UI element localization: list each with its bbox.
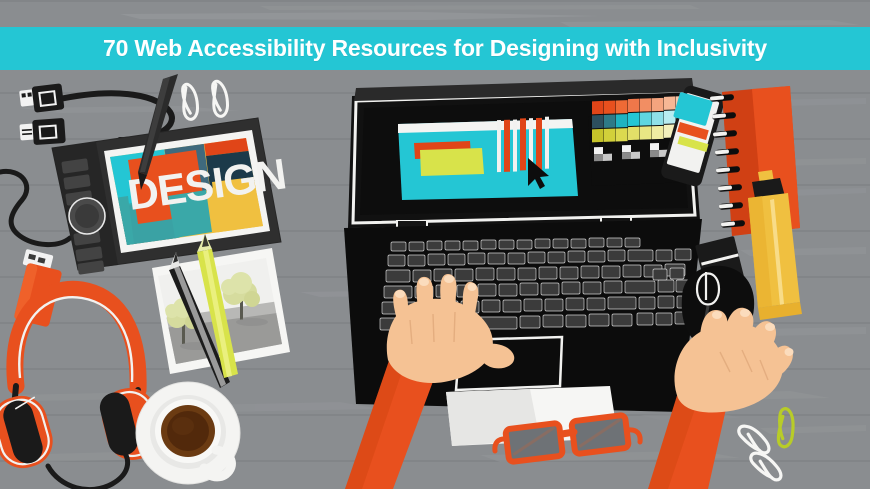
tablet-dial xyxy=(69,198,105,234)
desk-illustration: DESIGN xyxy=(0,0,870,489)
screen-bars xyxy=(497,117,549,172)
illustration-scene: DESIGN xyxy=(0,0,870,489)
title-banner: 70 Web Accessibility Resources for Desig… xyxy=(0,27,870,70)
coffee-cup xyxy=(136,382,240,484)
page-title: 70 Web Accessibility Resources for Desig… xyxy=(103,35,767,62)
